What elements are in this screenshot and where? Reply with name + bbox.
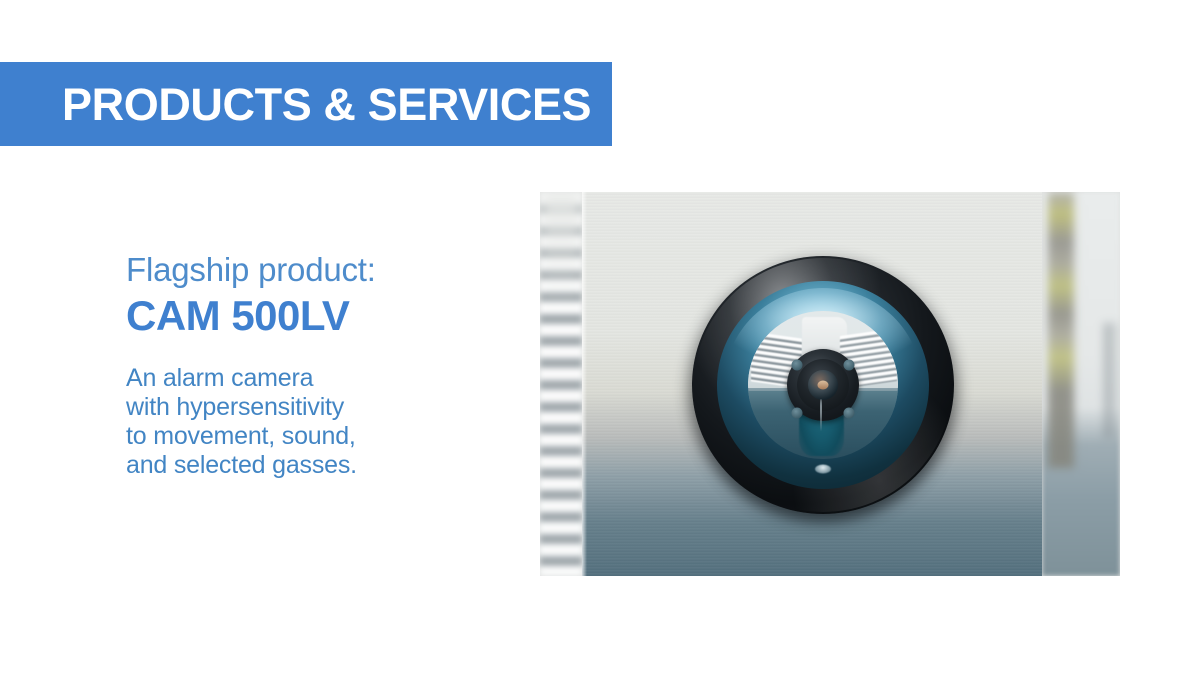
- product-photo: [540, 192, 1120, 576]
- page-title: PRODUCTS & SERVICES: [62, 82, 591, 127]
- product-text-column: Flagship product: CAM 500LV An alarm cam…: [126, 252, 486, 480]
- slide: PRODUCTS & SERVICES Flagship product: CA…: [0, 0, 1200, 675]
- header-banner: PRODUCTS & SERVICES: [0, 62, 612, 146]
- lens-bracket: [844, 408, 855, 419]
- lens-bracket: [792, 408, 803, 419]
- camera-lens-specular-highlight: [818, 381, 829, 390]
- lens-wire: [820, 399, 822, 431]
- photo-background-edge: [1104, 323, 1120, 438]
- description-line: to movement, sound,: [126, 422, 486, 451]
- lens-bracket: [844, 360, 855, 371]
- product-name-heading: CAM 500LV: [126, 293, 486, 339]
- lens-bracket: [792, 360, 803, 371]
- description-line: An alarm camera: [126, 364, 486, 393]
- product-eyebrow-label: Flagship product:: [126, 252, 486, 289]
- photo-background-post: [1048, 192, 1074, 468]
- product-description: An alarm camera with hypersensitivity to…: [126, 364, 486, 480]
- photo-background-right: [1042, 192, 1120, 576]
- plate-edge-highlight: [582, 192, 587, 576]
- description-line: and selected gasses.: [126, 451, 486, 480]
- photo-background-left: [540, 192, 582, 576]
- description-line: with hypersensitivity: [126, 393, 486, 422]
- dome-water-droplet: [815, 465, 831, 474]
